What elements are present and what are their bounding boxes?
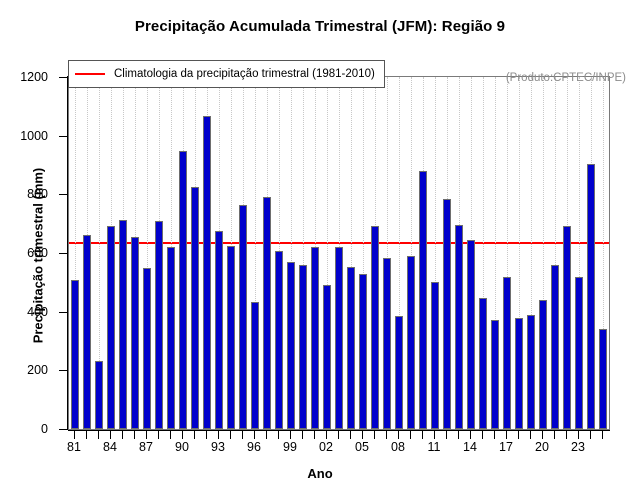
- bar: [71, 280, 78, 429]
- x-tick: [362, 431, 363, 439]
- x-tick-label: 99: [283, 440, 297, 454]
- x-tick: [398, 431, 399, 439]
- y-tick-label: 0: [41, 422, 48, 436]
- x-tick-label: 02: [319, 440, 333, 454]
- legend: Climatologia da precipitação trimestral …: [68, 60, 385, 88]
- y-tick: [59, 77, 67, 78]
- legend-line-swatch: [75, 73, 105, 75]
- x-tick: [350, 431, 351, 439]
- x-tick-label: 14: [463, 440, 477, 454]
- bar: [191, 187, 198, 429]
- bar: [131, 237, 138, 429]
- bar: [323, 285, 330, 429]
- bar: [227, 246, 234, 429]
- x-tick: [314, 431, 315, 439]
- x-tick: [458, 431, 459, 439]
- bar: [311, 247, 318, 429]
- bar: [503, 277, 510, 429]
- bar: [383, 258, 390, 429]
- x-tick: [602, 431, 603, 439]
- bar: [599, 329, 606, 429]
- x-tick: [506, 431, 507, 439]
- bar: [575, 277, 582, 429]
- bar: [455, 225, 462, 429]
- bar: [275, 251, 282, 429]
- x-tick: [146, 431, 147, 439]
- bar: [359, 274, 366, 429]
- x-tick: [254, 431, 255, 439]
- x-tick-label: 05: [355, 440, 369, 454]
- x-tick: [386, 431, 387, 439]
- bar: [95, 361, 102, 429]
- x-tick-label: 93: [211, 440, 225, 454]
- bar: [107, 226, 114, 429]
- x-tick: [74, 431, 75, 439]
- x-tick: [566, 431, 567, 439]
- bar: [155, 221, 162, 429]
- x-tick-label: 81: [67, 440, 81, 454]
- x-tick: [242, 431, 243, 439]
- y-tick: [59, 136, 67, 137]
- bar: [347, 267, 354, 429]
- x-tick: [170, 431, 171, 439]
- x-tick-label: 90: [175, 440, 189, 454]
- x-tick: [374, 431, 375, 439]
- y-tick: [59, 370, 67, 371]
- x-tick: [230, 431, 231, 439]
- x-tick: [218, 431, 219, 439]
- y-tick-label: 200: [27, 363, 48, 377]
- bar: [179, 151, 186, 429]
- x-tick-label: 08: [391, 440, 405, 454]
- x-tick: [158, 431, 159, 439]
- bar: [467, 240, 474, 429]
- bar: [287, 262, 294, 429]
- chart-root: Precipitação Acumulada Trimestral (JFM):…: [0, 0, 640, 500]
- y-axis: [60, 76, 68, 430]
- y-tick-label: 600: [27, 246, 48, 260]
- x-tick: [290, 431, 291, 439]
- bar: [443, 199, 450, 429]
- x-tick: [122, 431, 123, 439]
- y-tick: [59, 312, 67, 313]
- x-tick: [278, 431, 279, 439]
- bar: [431, 282, 438, 429]
- bar: [527, 315, 534, 429]
- y-tick: [59, 253, 67, 254]
- x-tick: [494, 431, 495, 439]
- bar: [83, 235, 90, 429]
- bar: [239, 205, 246, 429]
- x-tick: [482, 431, 483, 439]
- x-tick: [194, 431, 195, 439]
- bar: [167, 247, 174, 429]
- page-title: Precipitação Acumulada Trimestral (JFM):…: [0, 18, 640, 35]
- x-tick-label: 20: [535, 440, 549, 454]
- bar: [563, 226, 570, 429]
- bar: [395, 316, 402, 429]
- y-tick: [59, 429, 67, 430]
- producer-annotation: (Produto:CPTEC/INPE): [506, 72, 626, 84]
- y-tick-label: 1000: [20, 129, 48, 143]
- bar: [407, 256, 414, 429]
- x-axis-title: Ano: [0, 466, 640, 481]
- bar: [515, 318, 522, 429]
- x-tick-label: 84: [103, 440, 117, 454]
- x-tick: [86, 431, 87, 439]
- bar: [215, 231, 222, 429]
- x-tick-label: 87: [139, 440, 153, 454]
- x-tick: [326, 431, 327, 439]
- x-tick: [182, 431, 183, 439]
- legend-label: Climatologia da precipitação trimestral …: [114, 68, 375, 80]
- x-tick: [530, 431, 531, 439]
- x-tick-label: 23: [571, 440, 585, 454]
- x-tick: [266, 431, 267, 439]
- x-tick: [134, 431, 135, 439]
- y-tick-label: 1200: [20, 70, 48, 84]
- plot-area: [68, 76, 610, 430]
- y-tick-label: 400: [27, 305, 48, 319]
- x-tick: [590, 431, 591, 439]
- x-tick: [410, 431, 411, 439]
- x-tick: [446, 431, 447, 439]
- x-tick: [338, 431, 339, 439]
- bar: [551, 265, 558, 429]
- x-tick: [518, 431, 519, 439]
- bar: [419, 171, 426, 429]
- bar: [251, 302, 258, 429]
- bar: [479, 298, 486, 429]
- bar: [491, 320, 498, 429]
- y-tick: [59, 194, 67, 195]
- bar: [119, 220, 126, 429]
- bar: [299, 265, 306, 429]
- x-tick: [470, 431, 471, 439]
- x-tick: [434, 431, 435, 439]
- bar: [335, 247, 342, 429]
- bar: [371, 226, 378, 429]
- bar: [539, 300, 546, 429]
- x-tick-label: 96: [247, 440, 261, 454]
- y-tick-label: 800: [27, 187, 48, 201]
- x-tick: [302, 431, 303, 439]
- bar: [203, 116, 210, 429]
- x-axis: [68, 430, 610, 439]
- bar: [143, 268, 150, 429]
- x-tick: [110, 431, 111, 439]
- x-tick: [206, 431, 207, 439]
- x-tick-label: 17: [499, 440, 513, 454]
- bar: [263, 197, 270, 429]
- x-tick: [578, 431, 579, 439]
- bar: [587, 164, 594, 429]
- x-tick: [422, 431, 423, 439]
- x-tick-label: 11: [428, 440, 441, 454]
- x-tick: [98, 431, 99, 439]
- x-tick: [554, 431, 555, 439]
- x-tick: [542, 431, 543, 439]
